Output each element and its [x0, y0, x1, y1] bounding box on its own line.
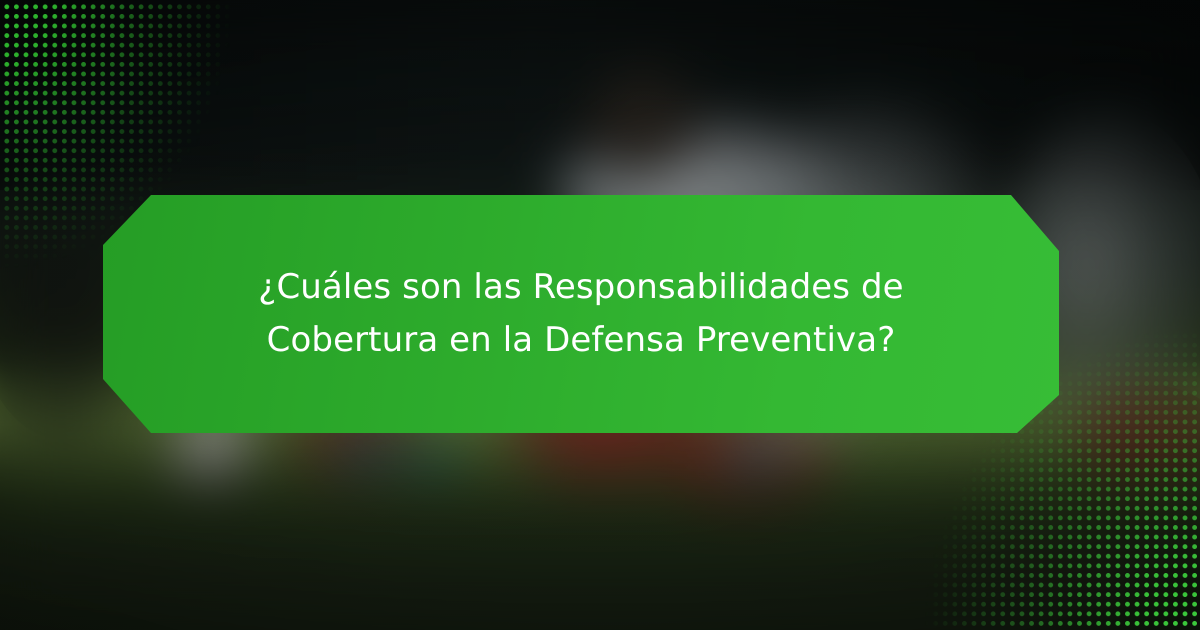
- title-banner: ¿Cuáles son las Responsabilidades de Cob…: [103, 195, 1059, 433]
- page-title: ¿Cuáles son las Responsabilidades de Cob…: [231, 261, 931, 366]
- social-share-card: ¿Cuáles son las Responsabilidades de Cob…: [0, 0, 1200, 630]
